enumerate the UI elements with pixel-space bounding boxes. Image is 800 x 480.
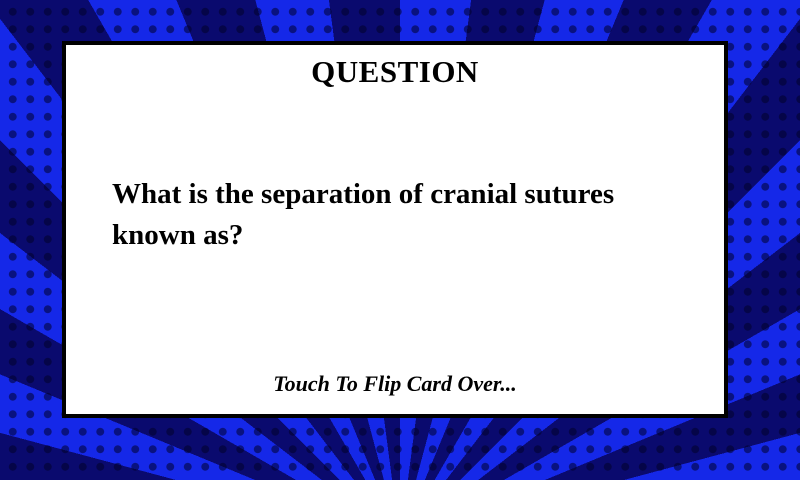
card-body: What is the separation of cranial suture… (66, 174, 724, 371)
flip-hint[interactable]: Touch To Flip Card Over... (66, 371, 724, 397)
flashcard-screen: QUESTION What is the separation of crani… (0, 0, 800, 480)
question-text: What is the separation of cranial suture… (112, 174, 690, 256)
card-title: QUESTION (66, 56, 724, 87)
flashcard[interactable]: QUESTION What is the separation of crani… (62, 41, 728, 418)
